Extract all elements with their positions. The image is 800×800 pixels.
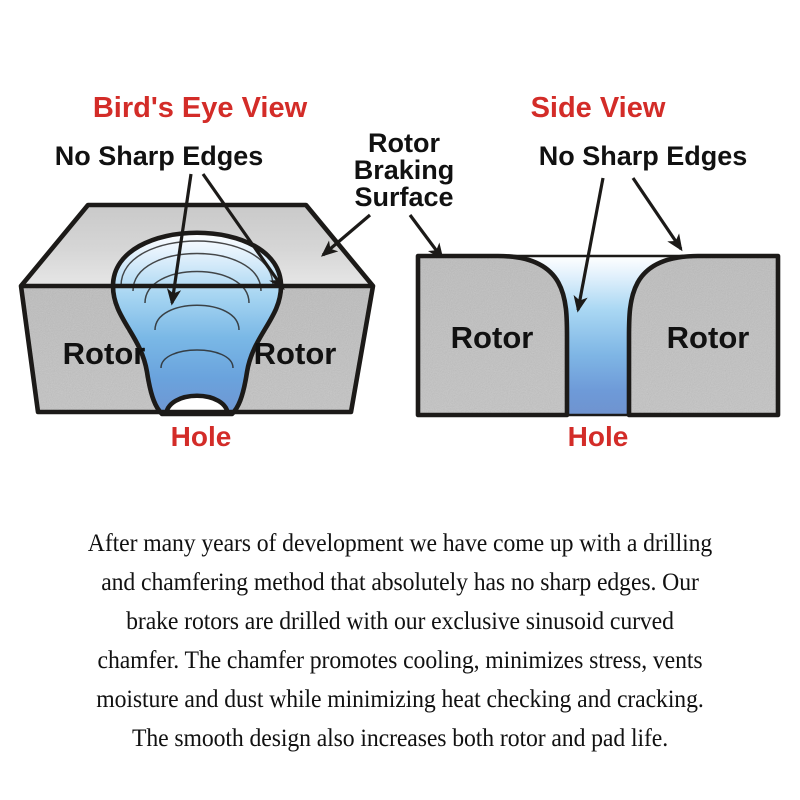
rotor-braking-surface-callout: Rotor Braking Surface xyxy=(323,128,454,258)
caption-paragraph: After many years of development we have … xyxy=(0,523,800,757)
caption-line: chamfer. The chamfer promotes cooling, m… xyxy=(28,640,772,679)
caption-line: moisture and dust while minimizing heat … xyxy=(28,679,772,718)
caption-line: and chamfering method that absolutely ha… xyxy=(28,562,772,601)
no-sharp-edges-label-right: No Sharp Edges xyxy=(539,141,748,171)
caption-line: brake rotors are drilled with our exclus… xyxy=(28,601,772,640)
rotor-block-3d xyxy=(21,205,373,416)
hole-label-left: Hole xyxy=(171,421,232,452)
braking-surface-line-1: Rotor xyxy=(368,128,440,158)
hole-label-right: Hole xyxy=(568,421,629,452)
braking-surface-line-2: Braking xyxy=(354,155,455,185)
rotor-label-left: Rotor xyxy=(63,336,146,371)
caption-line: The smooth design also increases both ro… xyxy=(28,718,772,757)
side-rotor-label-left: Rotor xyxy=(451,320,534,355)
braking-surface-line-3: Surface xyxy=(354,182,453,212)
side-rotor-label-right: Rotor xyxy=(667,320,750,355)
side-view-panel: Rotor Rotor Side View No Sharp Edges Hol… xyxy=(418,92,778,452)
caption-line: After many years of development we have … xyxy=(28,523,772,562)
arrow-to-right-chamfer-side xyxy=(633,178,681,249)
rotor-label-right: Rotor xyxy=(254,336,337,371)
arrow-braking-surface-to-right xyxy=(410,215,442,258)
no-sharp-edges-label-left: No Sharp Edges xyxy=(55,141,264,171)
birds-eye-view-title: Bird's Eye View xyxy=(93,92,308,124)
side-view-title: Side View xyxy=(531,92,666,124)
birds-eye-view-panel: Rotor Rotor Bird's Eye View No Sharp Edg… xyxy=(21,92,454,452)
